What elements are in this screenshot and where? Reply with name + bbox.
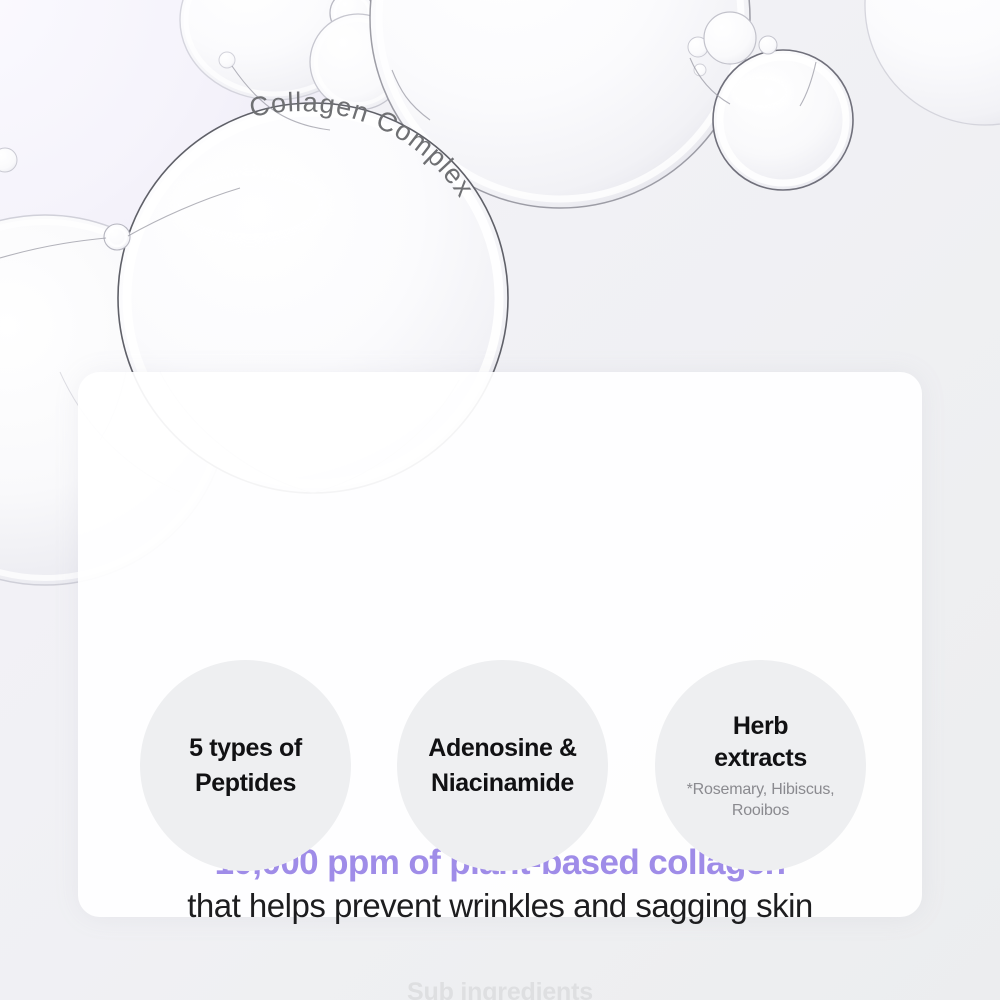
sub-ingredients-label: Sub ingredients [78,978,922,1000]
sub-ingredient-circle-adenosine-niacinamide: Adenosine & Niacinamide [397,660,608,871]
circle-title-line2: extracts [714,744,807,772]
sub-ingredient-row: 5 types of Peptides Adenosine & Niacinam… [78,660,922,872]
circle-title-line1: Herb [733,712,788,740]
circle-title: Herb extracts [714,710,807,775]
sub-ingredient-circle-peptides: 5 types of Peptides [140,660,351,871]
circle-title: 5 types of Peptides [189,731,302,800]
circle-title-line2: Niacinamide [431,769,574,797]
ingredient-info-card: Main ingredient 10,000 ppm of plant-base… [78,372,922,917]
circle-note: *Rosemary, Hibiscus, Rooibos [663,779,858,821]
circle-title: Adenosine & Niacinamide [428,731,576,800]
circle-title-line1: Adenosine & [428,734,576,762]
bubble-right-mid [713,50,853,190]
bubble-junction-left [104,224,130,250]
circle-title-line1: 5 types of [189,734,302,762]
sub-ingredient-circle-herb-extracts: Herb extracts *Rosemary, Hibiscus, Rooib… [655,660,866,871]
circle-title-line2: Peptides [195,769,296,797]
main-ingredient-subheadline: that helps prevent wrinkles and sagging … [78,887,922,925]
product-ingredient-panel: Collagen Complex Main ingredient 10,000 … [0,0,1000,1000]
bubble-tiny-rim-left [219,52,235,68]
